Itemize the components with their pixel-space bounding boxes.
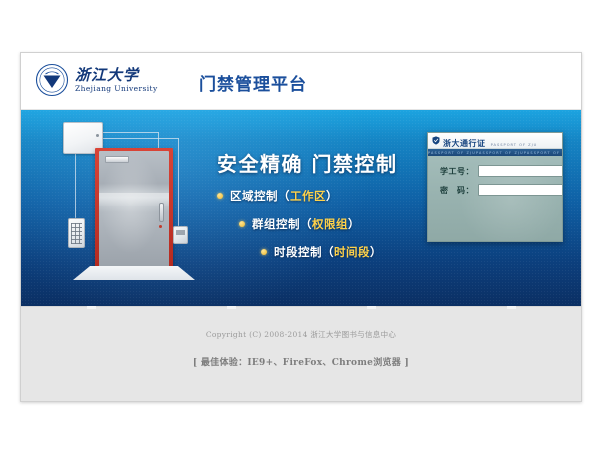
door-lock-indicator: [159, 225, 162, 228]
login-ribbon: PASSPORT OF ZJU PASSPORT OF ZJU PASSPORT…: [428, 149, 562, 156]
footer-notch-decoration: [21, 306, 581, 309]
copyright-text: Copyright (C) 2008-2014 浙江大学图书与信息中心: [21, 307, 581, 340]
door-closer: [105, 156, 129, 163]
browser-compat-text: [ 最佳体验：IE9+、FireFox、Chrome浏览器 ]: [21, 340, 581, 368]
feature-list: 区域控制（工作区） 群组控制（权限组） 时段控制（时间段）: [217, 188, 382, 272]
feature-item-time-control: 时段控制（时间段）: [261, 244, 382, 260]
password-input[interactable]: [478, 184, 563, 196]
ribbon-text: PASSPORT OF ZJU: [524, 151, 562, 155]
cable-1: [75, 152, 77, 218]
password-label: 密 码：: [434, 185, 474, 196]
login-title-cn: 浙大通行证: [443, 139, 486, 148]
floor-plate: [73, 266, 195, 280]
username-label: 学工号：: [434, 166, 474, 177]
hero-banner: 安全精确 门禁控制 区域控制（工作区） 群组控制（权限组） 时段控制（时间段）: [21, 110, 581, 306]
login-title-en: PASSPORT OF ZJU: [491, 143, 538, 147]
feature-text: 区域控制（工作区）: [230, 188, 338, 204]
bullet-dot-icon: [217, 193, 223, 199]
cable-5: [178, 138, 180, 226]
feature-item-area-control: 区域控制（工作区）: [217, 188, 382, 204]
university-seal-icon: [35, 63, 69, 97]
access-control-illustration: [55, 118, 210, 298]
page-title: 门禁管理平台: [199, 70, 307, 95]
keypad-reader-icon: [68, 218, 85, 248]
feature-text: 时段控制（时间段）: [274, 244, 382, 260]
bullet-dot-icon: [261, 249, 267, 255]
feature-text: 群组控制（权限组）: [252, 216, 360, 232]
username-row: 学工号：: [434, 165, 556, 177]
login-panel: 浙大通行证 PASSPORT OF ZJU PASSPORT OF ZJU PA…: [427, 132, 563, 242]
university-logo[interactable]: 浙江大学 Zhejiang University: [35, 63, 158, 97]
security-door-icon: [95, 148, 173, 268]
page-container: 浙江大学 Zhejiang University 门禁管理平台: [20, 52, 582, 402]
login-form: 学工号： 密 码：: [428, 156, 562, 196]
login-title-block: 浙大通行证 PASSPORT OF ZJU: [443, 132, 537, 150]
card-reader-icon: [173, 226, 188, 244]
logo-text-block: 浙江大学 Zhejiang University: [75, 67, 158, 94]
cable-2: [101, 132, 159, 134]
door-leaf: [99, 151, 169, 268]
ribbon-text: PASSPORT OF ZJU: [428, 151, 476, 155]
logo-chinese-name: 浙江大学: [75, 67, 158, 83]
username-input[interactable]: [478, 165, 563, 177]
door-handle: [159, 203, 164, 222]
logo-english-name: Zhejiang University: [75, 84, 158, 94]
site-header: 浙江大学 Zhejiang University 门禁管理平台: [21, 53, 581, 110]
bullet-dot-icon: [239, 221, 245, 227]
banner-slogan: 安全精确 门禁控制: [217, 148, 397, 177]
login-panel-header: 浙大通行证 PASSPORT OF ZJU: [428, 133, 562, 149]
cable-4: [101, 138, 179, 140]
password-row: 密 码：: [434, 184, 556, 196]
site-footer: Copyright (C) 2008-2014 浙江大学图书与信息中心 [ 最佳…: [21, 306, 581, 401]
shield-icon: [432, 136, 440, 145]
feature-item-group-control: 群组控制（权限组）: [239, 216, 382, 232]
ribbon-text: PASSPORT OF ZJU: [476, 151, 524, 155]
